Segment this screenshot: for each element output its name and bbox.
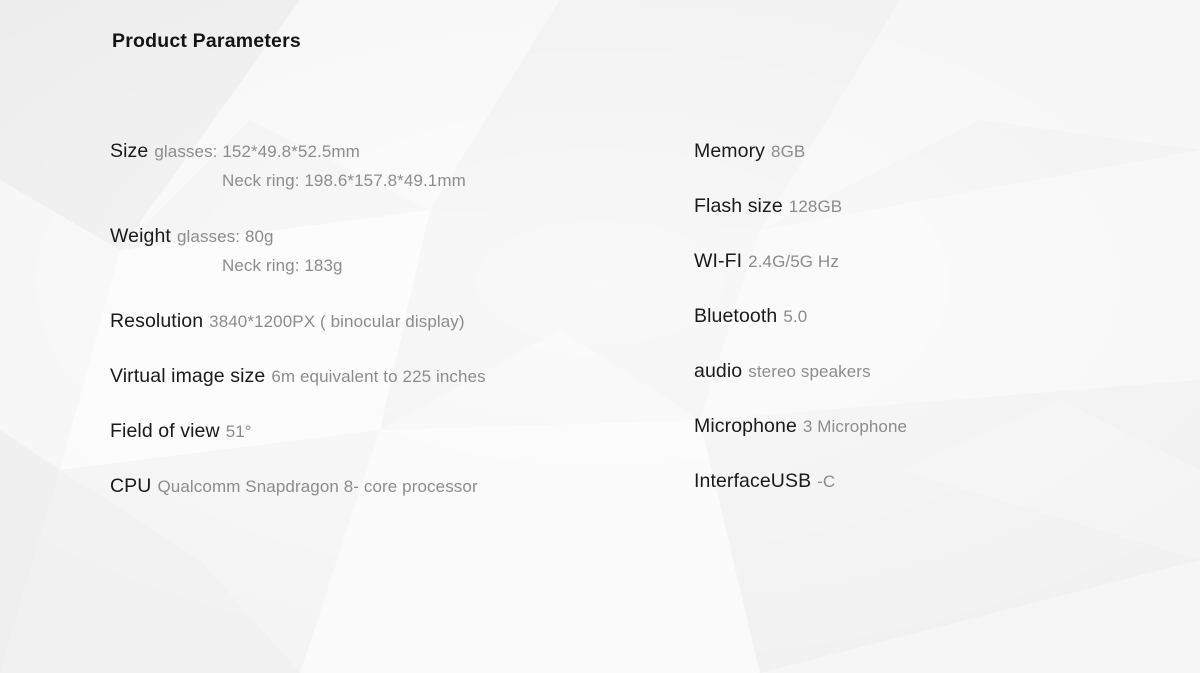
spec-value: 51° — [226, 422, 252, 441]
spec-row: WI-FI2.4G/5G Hz — [694, 246, 1154, 276]
spec-value-extra: Neck ring: 198.6*157.8*49.1mm — [222, 171, 466, 190]
spec-label: Memory — [694, 140, 765, 162]
spec-row: Microphone3 Microphone — [694, 411, 1154, 441]
spec-line-primary: Memory8GB — [694, 136, 1154, 166]
spec-label: Weight — [110, 225, 171, 247]
spec-label: Bluetooth — [694, 305, 777, 327]
spec-line-primary: WI-FI2.4G/5G Hz — [694, 246, 1154, 276]
spec-value: Qualcomm Snapdragon 8- core processor — [157, 477, 477, 496]
spec-value: glasses: 80g — [177, 227, 274, 246]
spec-row: InterfaceUSB-C — [694, 466, 1154, 496]
spec-value: 6m equivalent to 225 inches — [271, 367, 485, 386]
spec-row: Weightglasses: 80gNeck ring: 183g — [110, 221, 670, 281]
spec-line-primary: Bluetooth5.0 — [694, 301, 1154, 331]
spec-row: Memory8GB — [694, 136, 1154, 166]
spec-value: 3840*1200PX ( binocular display) — [209, 312, 465, 331]
spec-row: CPUQualcomm Snapdragon 8- core processor — [110, 471, 670, 501]
spec-line-secondary: Neck ring: 183g — [110, 251, 670, 281]
spec-value: 128GB — [789, 197, 842, 216]
spec-label: Resolution — [110, 310, 203, 332]
spec-line-primary: Weightglasses: 80g — [110, 221, 670, 251]
spec-line-primary: Flash size128GB — [694, 191, 1154, 221]
spec-value: stereo speakers — [748, 362, 870, 381]
spec-value: glasses: 152*49.8*52.5mm — [154, 142, 360, 161]
spec-label: Microphone — [694, 415, 797, 437]
spec-row: Resolution3840*1200PX ( binocular displa… — [110, 306, 670, 336]
spec-row: audiostereo speakers — [694, 356, 1154, 386]
spec-value: 2.4G/5G Hz — [748, 252, 839, 271]
spec-line-primary: audiostereo speakers — [694, 356, 1154, 386]
spec-column-right: Memory8GBFlash size128GBWI-FI2.4G/5G HzB… — [694, 136, 1154, 496]
spec-line-primary: CPUQualcomm Snapdragon 8- core processor — [110, 471, 670, 501]
spec-line-primary: InterfaceUSB-C — [694, 466, 1154, 496]
spec-line-primary: Field of view51° — [110, 416, 670, 446]
spec-line-primary: Microphone3 Microphone — [694, 411, 1154, 441]
spec-line-primary: Virtual image size6m equivalent to 225 i… — [110, 361, 670, 391]
spec-line-primary: Sizeglasses: 152*49.8*52.5mm — [110, 136, 670, 166]
spec-label: audio — [694, 360, 742, 382]
spec-label: Field of view — [110, 420, 220, 442]
spec-row: Flash size128GB — [694, 191, 1154, 221]
spec-value: 5.0 — [783, 307, 807, 326]
spec-label: Virtual image size — [110, 365, 265, 387]
spec-value: -C — [817, 472, 835, 491]
spec-line-secondary: Neck ring: 198.6*157.8*49.1mm — [110, 166, 670, 196]
spec-label: Size — [110, 140, 148, 162]
spec-line-primary: Resolution3840*1200PX ( binocular displa… — [110, 306, 670, 336]
spec-column-left: Sizeglasses: 152*49.8*52.5mmNeck ring: 1… — [110, 136, 670, 501]
content-area: Product Parameters Sizeglasses: 152*49.8… — [0, 0, 1200, 673]
spec-label: CPU — [110, 475, 151, 497]
page-title: Product Parameters — [112, 30, 301, 53]
spec-row: Field of view51° — [110, 416, 670, 446]
spec-label: WI-FI — [694, 250, 742, 272]
spec-value: 3 Microphone — [803, 417, 907, 436]
spec-value-extra: Neck ring: 183g — [222, 256, 343, 275]
product-parameters-page: Product Parameters Sizeglasses: 152*49.8… — [0, 0, 1200, 673]
spec-value: 8GB — [771, 142, 805, 161]
spec-row: Sizeglasses: 152*49.8*52.5mmNeck ring: 1… — [110, 136, 670, 196]
spec-row: Virtual image size6m equivalent to 225 i… — [110, 361, 670, 391]
spec-label: Flash size — [694, 195, 783, 217]
spec-row: Bluetooth5.0 — [694, 301, 1154, 331]
spec-label: InterfaceUSB — [694, 470, 811, 492]
